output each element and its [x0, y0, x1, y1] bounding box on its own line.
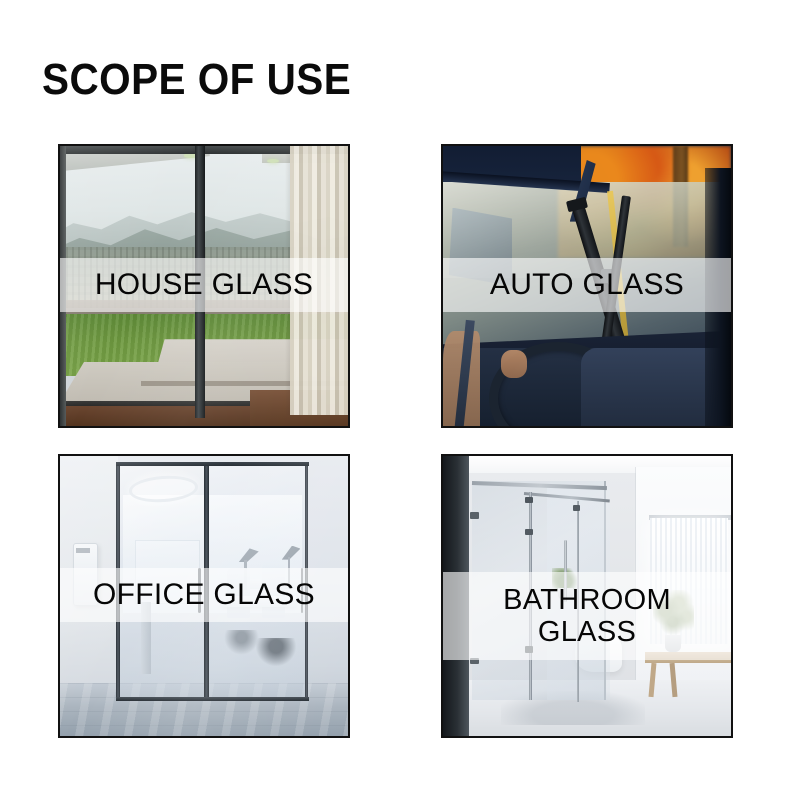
- bathroom-glass-label: BATHROOM GLASS: [503, 584, 671, 649]
- panel-auto-glass[interactable]: AUTO GLASS: [441, 144, 733, 428]
- shower-hinge: [525, 497, 532, 503]
- bathroom-glass-label-band: BATHROOM GLASS: [443, 572, 731, 660]
- panel-house-glass[interactable]: HOUSE GLASS: [58, 144, 350, 428]
- panel-bathroom-glass[interactable]: BATHROOM GLASS: [441, 454, 733, 738]
- shower-hinge: [525, 529, 532, 535]
- office-glass-label-band: OFFICE GLASS: [60, 568, 348, 622]
- auto-glass-label: AUTO GLASS: [490, 268, 684, 302]
- auto-glass-label-band: AUTO GLASS: [443, 258, 731, 312]
- panel-office-glass[interactable]: OFFICE GLASS: [58, 454, 350, 738]
- office-glass-label: OFFICE GLASS: [93, 578, 315, 612]
- house-glass-label-band: HOUSE GLASS: [60, 258, 348, 312]
- car-seat: [581, 348, 725, 426]
- panel-grid: HOUSE GLASS: [0, 0, 800, 800]
- house-glass-label: HOUSE GLASS: [95, 268, 313, 302]
- driver-hand: [501, 350, 527, 378]
- shower-hinge: [573, 505, 580, 511]
- shower-hinge: [470, 512, 479, 519]
